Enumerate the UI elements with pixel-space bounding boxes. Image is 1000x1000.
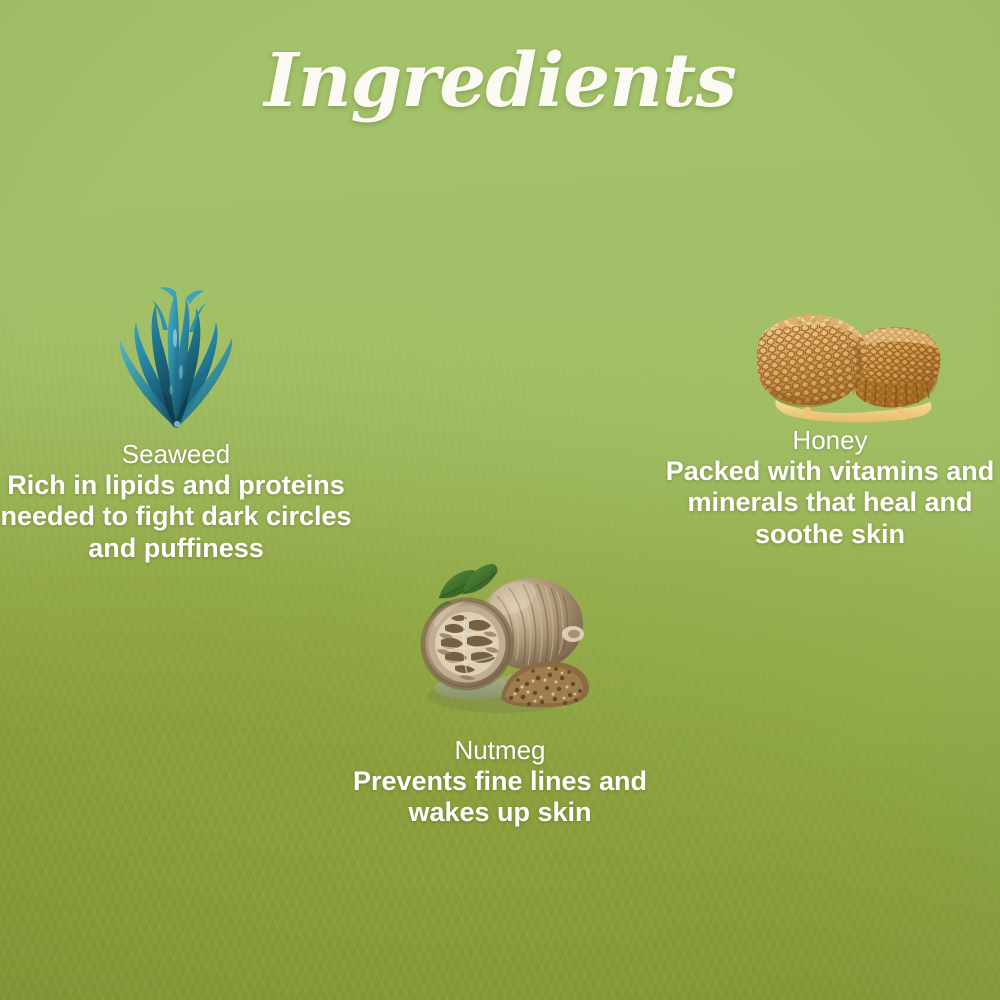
ingredient-description: Rich in lipids and proteins needed to fi…: [0, 470, 352, 564]
ingredient-nutmeg: Nutmeg Prevents fine lines and wakes up …: [330, 556, 670, 829]
ingredient-seaweed: Seaweed Rich in lipids and proteins need…: [0, 286, 352, 564]
honeycomb-icon: [748, 284, 948, 424]
ingredient-name: Nutmeg: [330, 736, 670, 765]
ingredients-poster: Ingredients: [0, 0, 1000, 1000]
seaweed-icon: [106, 286, 246, 434]
ingredient-name: Seaweed: [0, 440, 352, 469]
page-title: Ingredients: [0, 44, 1000, 118]
ingredient-name: Honey: [660, 426, 1000, 455]
nutmeg-icon: [405, 556, 595, 724]
ingredient-description: Packed with vitamins and minerals that h…: [660, 456, 1000, 550]
ingredient-description: Prevents fine lines and wakes up skin: [330, 766, 670, 829]
ingredient-honey: Honey Packed with vitamins and minerals …: [660, 284, 1000, 550]
